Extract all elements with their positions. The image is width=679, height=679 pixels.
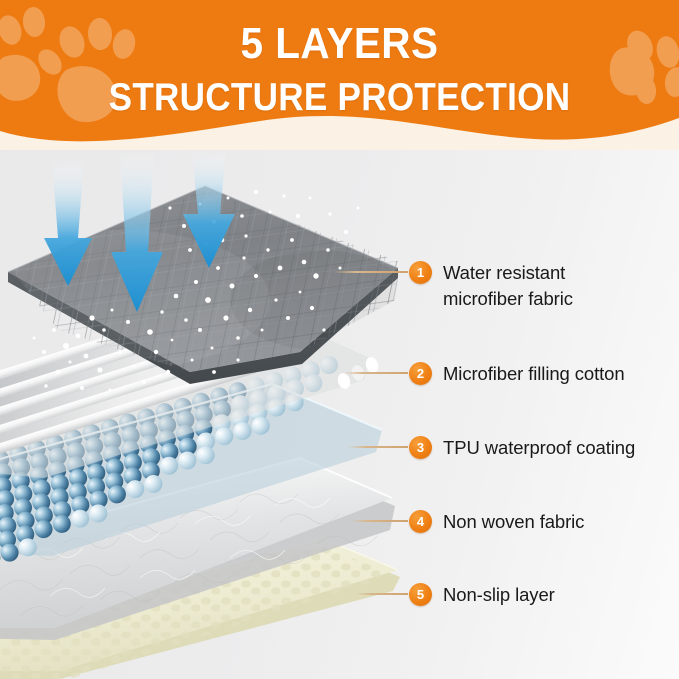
- callout-label-3: TPU waterproof coating: [443, 435, 635, 461]
- callout-badge-2: 2: [409, 362, 432, 385]
- callout-label-4: Non woven fabric: [443, 509, 584, 535]
- callout-badge-5: 5: [409, 583, 432, 606]
- callout-item-2[interactable]: 2 Microfiber filling cotton: [409, 361, 625, 387]
- callout-label-1: Water resistant microfiber fabric: [443, 260, 573, 312]
- callout-badge-1: 1: [409, 261, 432, 284]
- callout-badge-3: 3: [409, 436, 432, 459]
- callout-item-4[interactable]: 4 Non woven fabric: [409, 509, 584, 535]
- callout-item-3[interactable]: 3 TPU waterproof coating: [409, 435, 635, 461]
- callout-list: 1 Water resistant microfiber fabric 2 Mi…: [0, 0, 679, 679]
- callout-item-5[interactable]: 5 Non-slip layer: [409, 582, 555, 608]
- callout-badge-4: 4: [409, 510, 432, 533]
- five-layer-structure-infographic: 5 LAYERS STRUCTURE PROTECTION 1 Water re…: [0, 0, 679, 679]
- callout-label-2: Microfiber filling cotton: [443, 361, 625, 387]
- callout-item-1[interactable]: 1 Water resistant microfiber fabric: [409, 260, 573, 312]
- callout-label-5: Non-slip layer: [443, 582, 555, 608]
